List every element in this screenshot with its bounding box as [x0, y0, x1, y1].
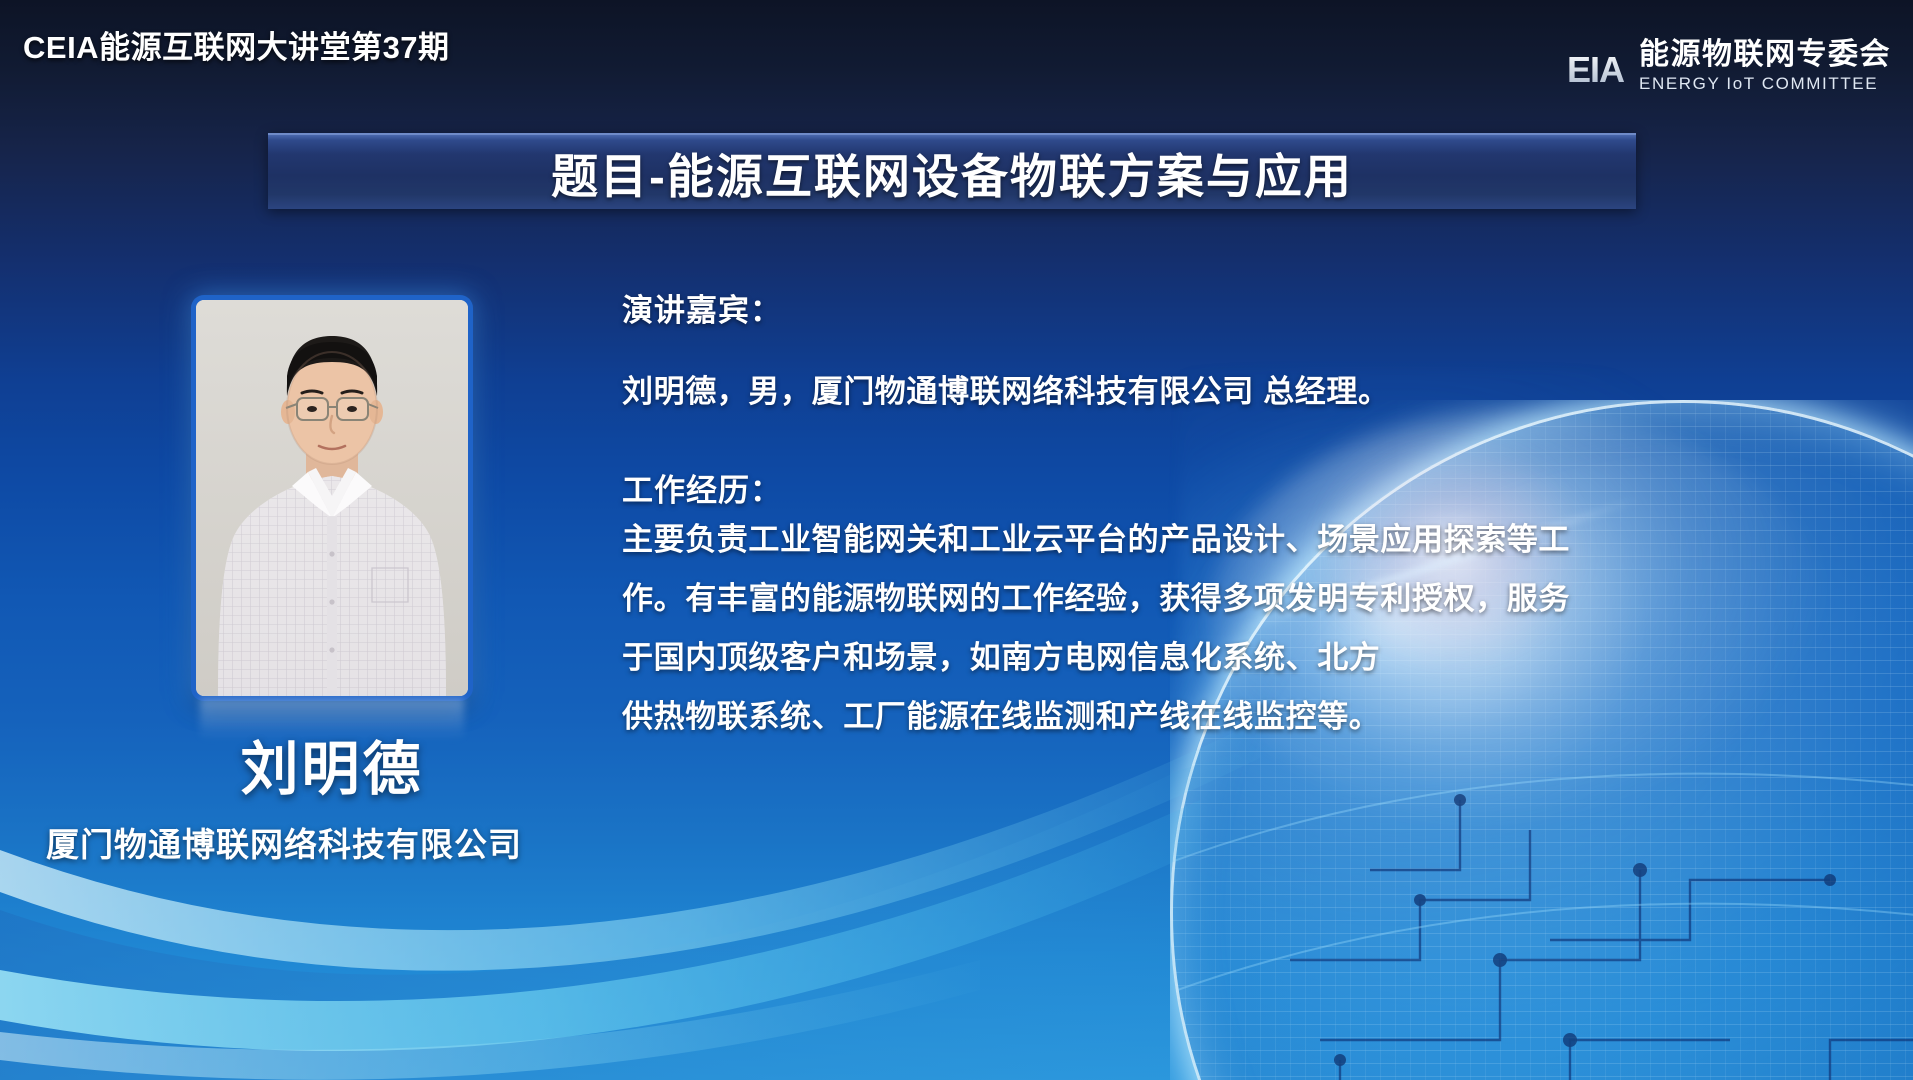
experience-paragraph: 主要负责工业智能网关和工业云平台的产品设计、场景应用探索等工 作。有丰富的能源物… [622, 510, 1782, 746]
logo-text-block: 能源物联网专委会 ENERGY IoT COMMITTEE [1639, 39, 1891, 96]
experience-line: 于国内顶级客户和场景，如南方电网信息化系统、北方 [622, 628, 1782, 687]
experience-line: 供热物联系统、工厂能源在线监测和产线在线监控等。 [622, 687, 1782, 746]
logo-chinese-name: 能源物联网专委会 [1639, 39, 1891, 71]
presentation-slide: CEIA能源互联网大讲堂第37期 EIA [0, 0, 1913, 1080]
experience-heading: 工作经历： [622, 465, 1782, 510]
speaker-name: 刘明德 [196, 722, 468, 806]
experience-line: 主要负责工业智能网关和工业云平台的产品设计、场景应用探索等工 [622, 510, 1782, 569]
logo-english-name: ENERGY IoT COMMITTEE [1639, 73, 1891, 95]
svg-text:EIA: EIA [1567, 49, 1625, 90]
ceia-logo: EIA 能源物联网专委会 ENERGY IoT COMMITTEE [1531, 26, 1891, 108]
spacer [622, 411, 1782, 465]
title-banner-text: 题目-能源互联网设备物联方案与应用 [551, 138, 1353, 207]
speaker-bio-block: 演讲嘉宾： 刘明德，男，厦门物通博联网络科技有限公司 总经理。 工作经历： 主要… [622, 285, 1782, 746]
experience-line: 作。有丰富的能源物联网的工作经验，获得多项发明专利授权，服务 [622, 569, 1782, 628]
series-title: CEIA能源互联网大讲堂第37期 [23, 22, 450, 67]
spacer [622, 330, 1782, 366]
speaker-photo [196, 300, 468, 696]
speaker-company: 厦门物通博联网络科技有限公司 [46, 818, 522, 866]
title-banner: 题目-能源互联网设备物联方案与应用 [268, 133, 1636, 209]
guest-detail-line: 刘明德，男，厦门物通博联网络科技有限公司 总经理。 [622, 366, 1782, 411]
speaker-portrait-image [196, 300, 468, 696]
ceia-crescent-logo-icon: EIA [1531, 26, 1637, 108]
guest-heading: 演讲嘉宾： [622, 285, 1782, 330]
